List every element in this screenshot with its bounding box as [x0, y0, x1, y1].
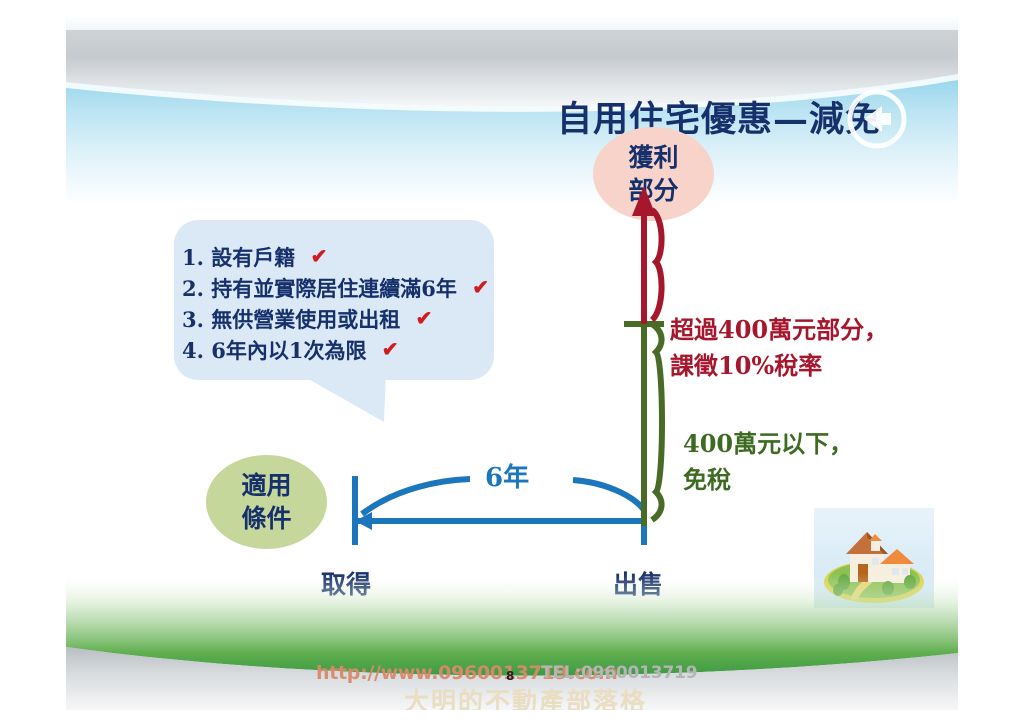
- exempt-line2: 免稅: [683, 462, 853, 498]
- taxable-brace: [652, 210, 662, 320]
- slide-page: 自用住宅優惠—減免 1. 設有戶籍 ✔ 2. 持有並實際居住連續滿6年 ✔: [66, 14, 958, 710]
- span-arc-right: [573, 480, 644, 510]
- span-arc-left: [362, 479, 470, 514]
- exempt-annotation: 400萬元以下， 免稅: [683, 426, 853, 498]
- watermark-mail: MAIL:liumingying@gmail.com: [523, 709, 815, 710]
- taxable-annotation: 超過400萬元部分， 課徵10%稅率: [670, 312, 888, 384]
- exempt-brace: [652, 324, 662, 520]
- page-number: 8: [506, 669, 514, 683]
- timeline-span-label: 6年: [485, 457, 529, 494]
- taxable-line2: 課徵10%稅率: [670, 348, 888, 384]
- taxable-line1: 超過400萬元部分，: [670, 312, 888, 348]
- watermark-tel: TEL:0960013719: [541, 663, 697, 683]
- exempt-line1: 400萬元以下，: [683, 426, 853, 462]
- slide-root: 自用住宅優惠—減免 1. 設有戶籍 ✔ 2. 持有並實際居住連續滿6年 ✔: [0, 0, 1024, 723]
- watermark-line: LINE:mingyingliu: [332, 709, 499, 710]
- watermark-blog: 大明的不動產部落格: [404, 682, 647, 710]
